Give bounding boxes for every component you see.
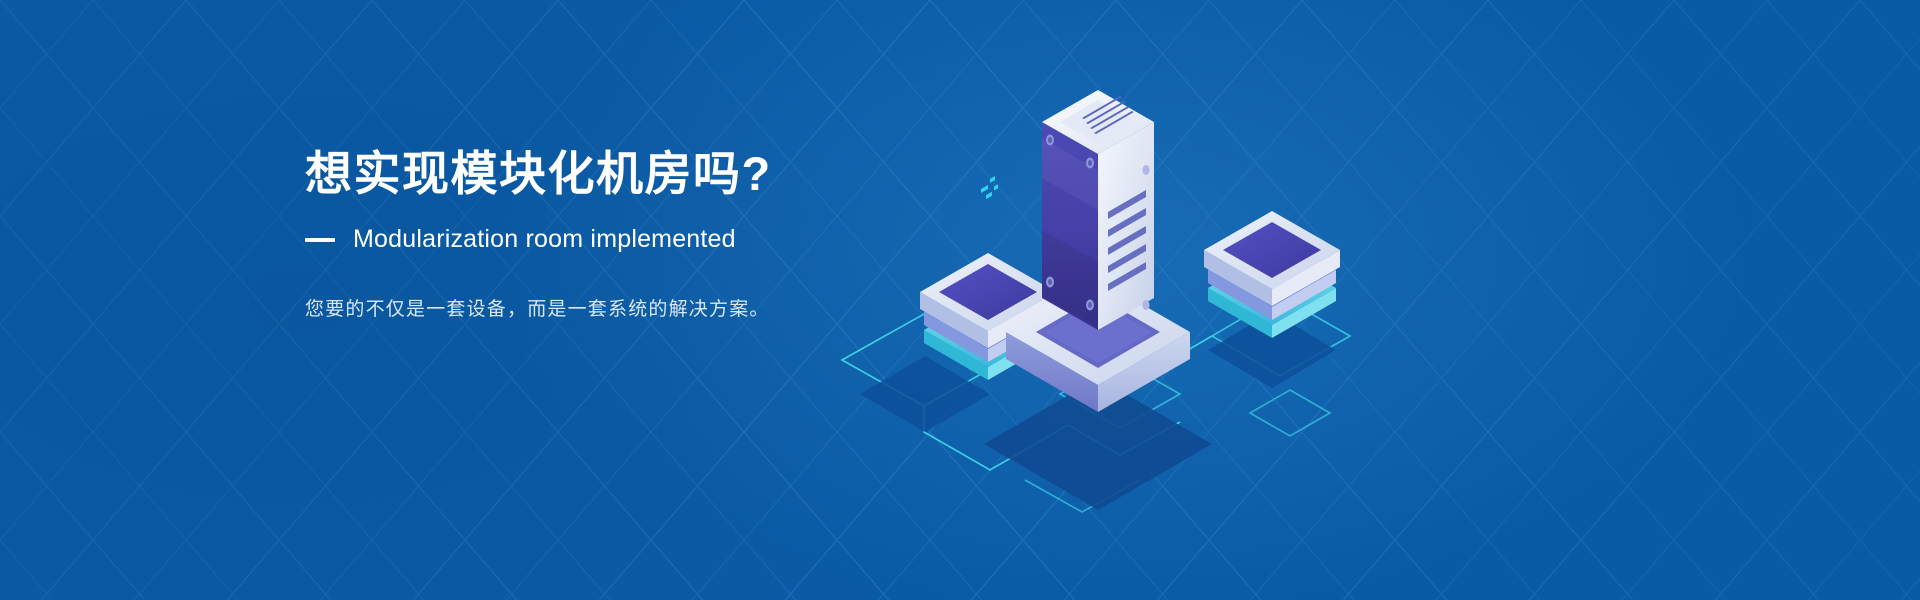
hero-banner: 想实现模块化机房吗? Modularization room implement… bbox=[0, 0, 1920, 600]
page-title: 想实现模块化机房吗? bbox=[305, 150, 1005, 197]
server-tower bbox=[1006, 90, 1190, 412]
page-subtitle: Modularization room implemented bbox=[353, 225, 736, 254]
dash-divider-icon bbox=[305, 238, 335, 242]
subtitle-row: Modularization room implemented bbox=[305, 225, 1005, 254]
chip-module-right bbox=[1204, 60, 1340, 338]
hero-description: 您要的不仅是一套设备，而是一套系统的解决方案。 bbox=[305, 294, 1005, 321]
hero-copy: 想实现模块化机房吗? Modularization room implement… bbox=[305, 150, 1005, 340]
